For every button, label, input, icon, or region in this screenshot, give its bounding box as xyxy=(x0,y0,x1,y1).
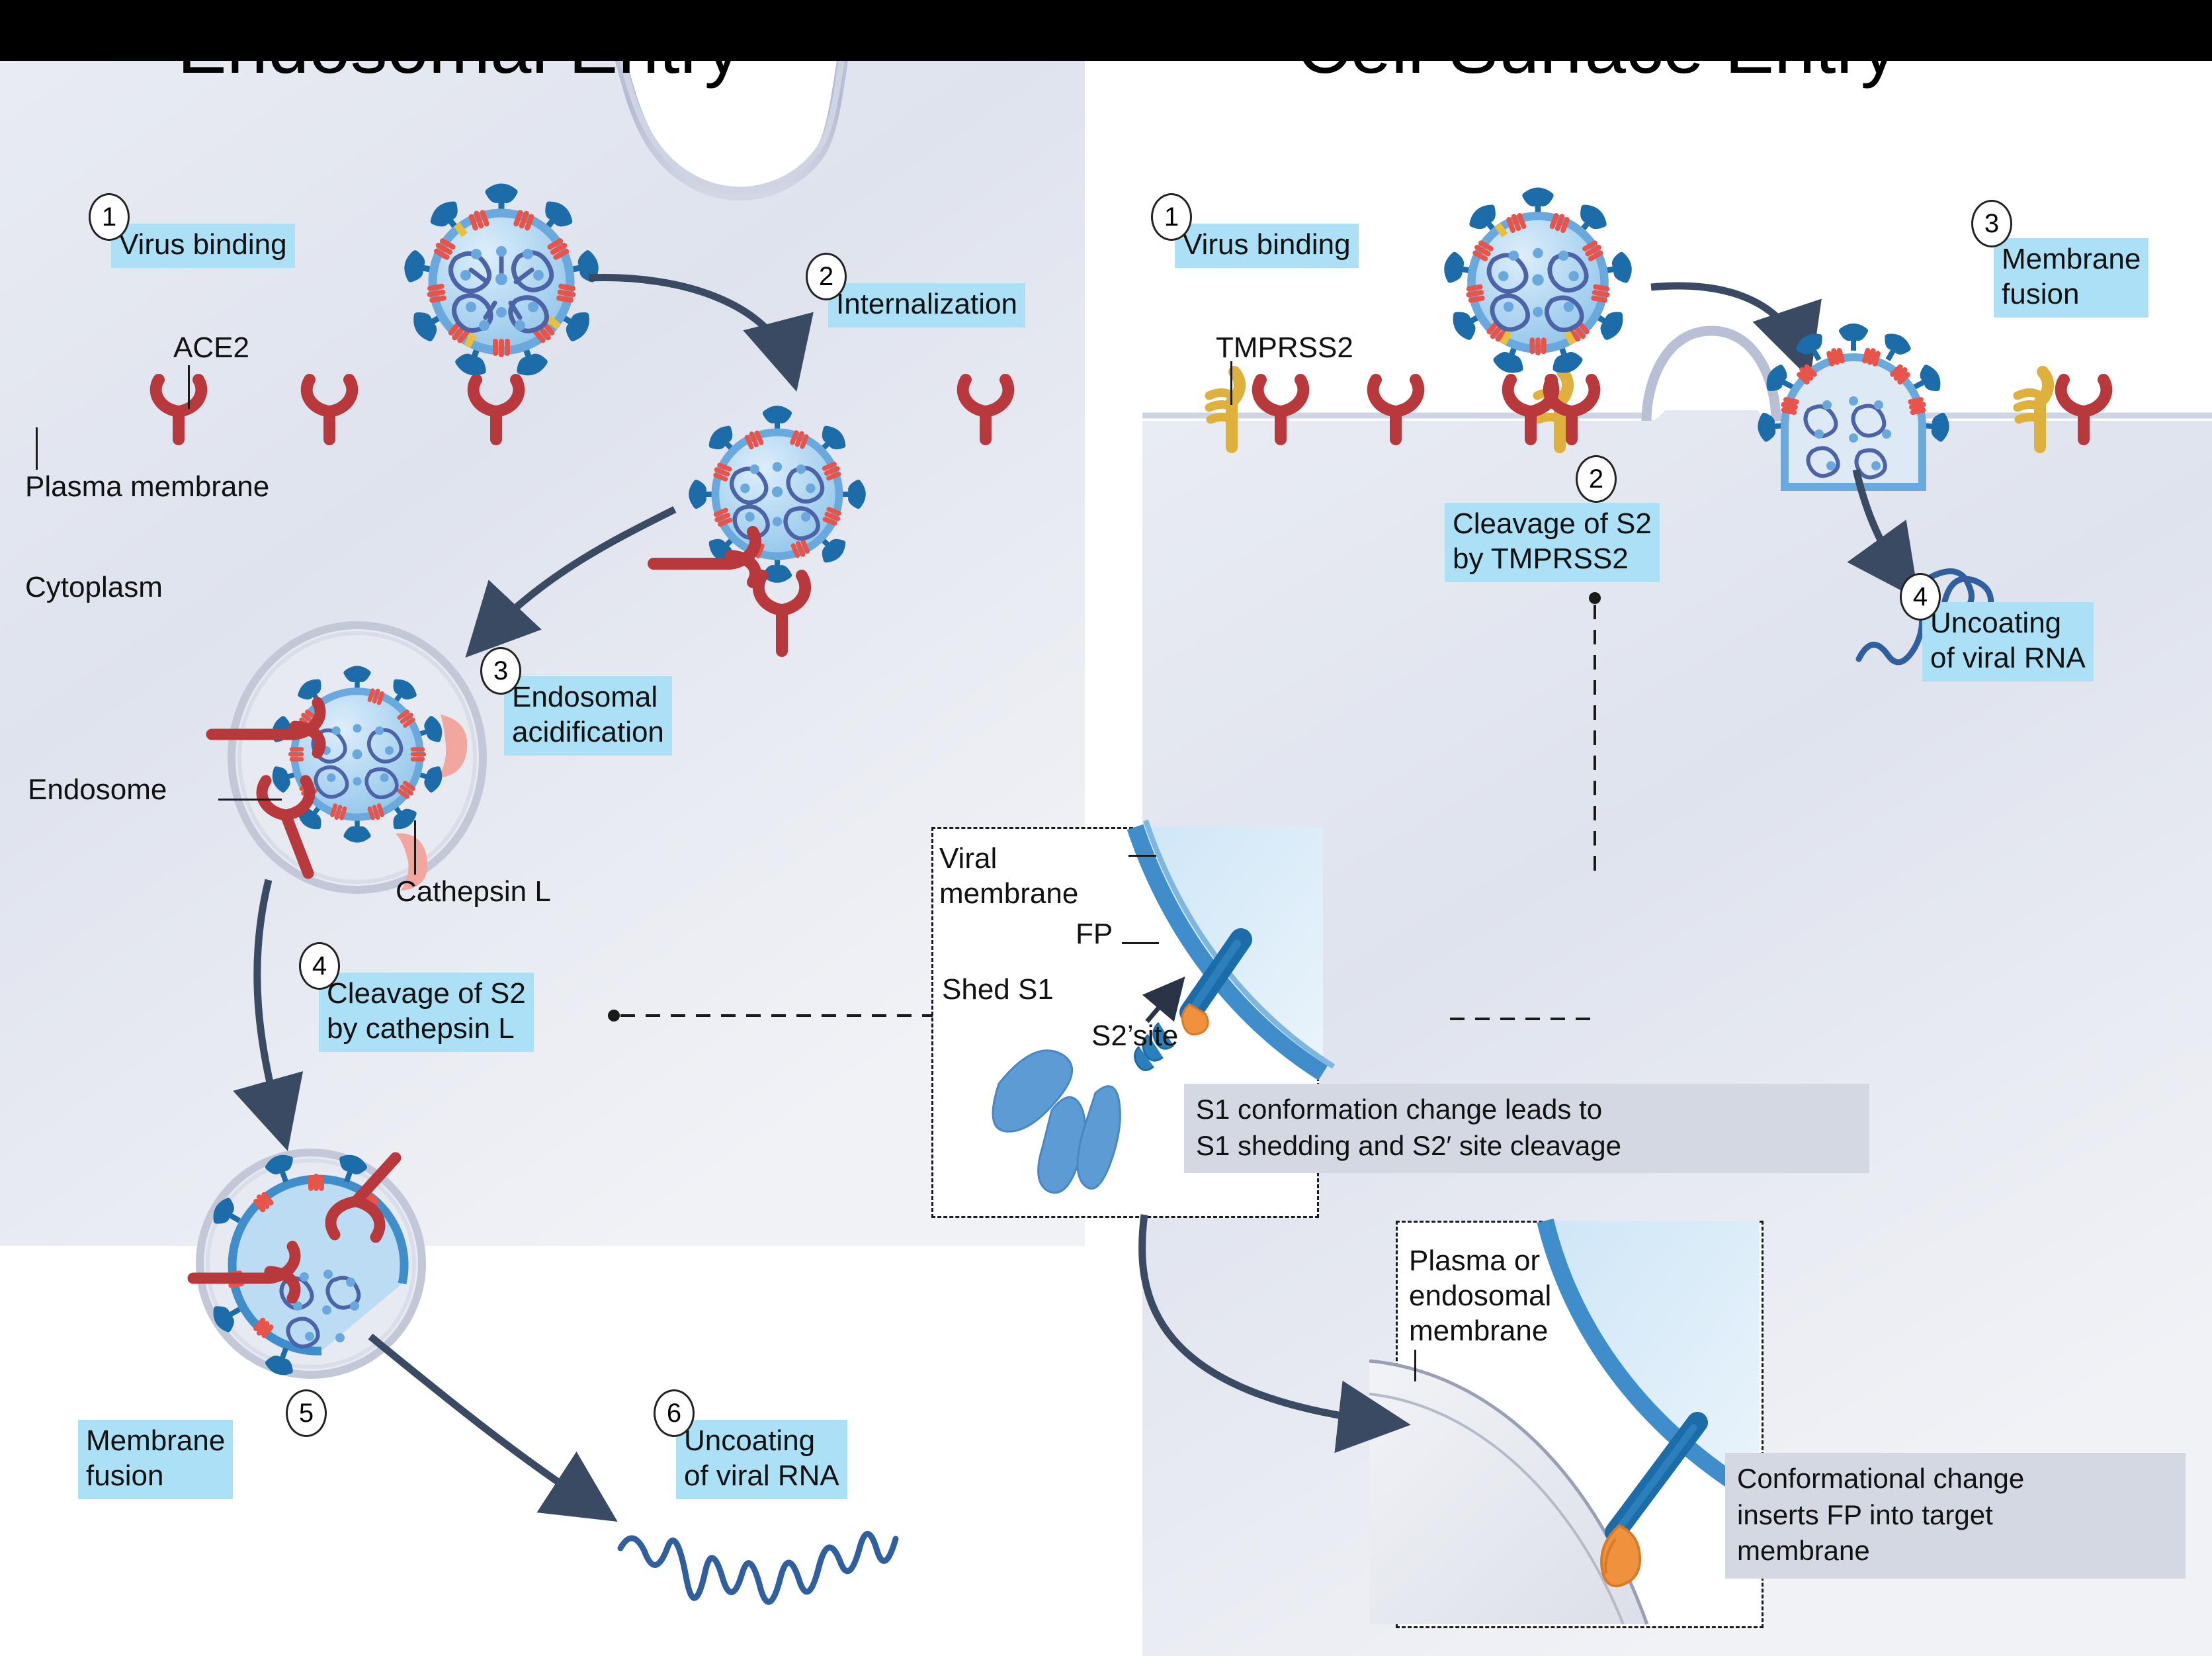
arrow-fusion-to-rna xyxy=(357,1323,635,1542)
fp-leader-line xyxy=(1122,942,1159,944)
ace2-leader-line xyxy=(188,365,190,409)
left-step-5-label: Membrane fusion xyxy=(78,1420,233,1499)
right-step-1-label: Virus binding xyxy=(1175,224,1359,268)
viral-membrane-leader-line xyxy=(1128,855,1156,857)
left-step-5-number: 5 xyxy=(286,1389,327,1437)
inset-fp-label: FP xyxy=(1076,917,1113,952)
tmprss2-label: TMPRSS2 xyxy=(1216,331,1353,366)
left-step-4-label: Cleavage of S2 by cathepsin L xyxy=(319,973,534,1052)
inset-s2-site-label: S2’site xyxy=(1091,1019,1178,1054)
viral-rna-strand-left xyxy=(615,1522,926,1628)
cathepsin-l-label: Cathepsin L xyxy=(396,875,551,910)
left-step-1-number: 1 xyxy=(89,193,130,241)
left-step-6-label: Uncoating of viral RNA xyxy=(676,1420,847,1499)
left-cell-svg xyxy=(0,0,1085,1246)
cathepsin-l-leader-line xyxy=(414,820,416,875)
left-step-3-label: Endosomal acidification xyxy=(504,676,672,756)
right-step-2-number: 2 xyxy=(1576,455,1617,503)
ace2-in-fusion-vesicle-left xyxy=(187,1237,306,1310)
tmprss2-leader-line xyxy=(1230,361,1232,405)
right-step-4-number: 4 xyxy=(1900,573,1941,621)
right-step-2-label: Cleavage of S2 by TMPRSS2 xyxy=(1445,503,1660,582)
inset-bottom-callout: Conformational change inserts FP into ta… xyxy=(1725,1453,2186,1579)
inset-top-callout: S1 conformation change leads to S1 shedd… xyxy=(1184,1084,1869,1173)
target-membrane-leader-line xyxy=(1414,1350,1416,1381)
left-cell-panel xyxy=(0,0,1085,1246)
plasma-membrane-leader-line xyxy=(36,427,38,470)
left-step-4-number: 4 xyxy=(299,942,340,990)
ace2-label: ACE2 xyxy=(173,331,249,366)
inset-viral-membrane-label: Viral membrane xyxy=(939,842,1078,912)
right-step-1-number: 1 xyxy=(1151,193,1192,241)
endosome-leader-line xyxy=(218,799,282,801)
right-step-4-label: Uncoating of viral RNA xyxy=(1922,602,2094,681)
top-black-band xyxy=(0,0,2212,61)
left-step-2-label: Internalization xyxy=(828,283,1025,327)
left-step-1-label: Virus binding xyxy=(111,224,295,268)
virion-free-right xyxy=(1442,187,1634,378)
right-step-3-label: Membrane fusion xyxy=(1994,238,2148,318)
left-step-3-number: 3 xyxy=(480,647,521,695)
inset-target-membrane-label: Plasma or endosomal membrane xyxy=(1409,1244,1551,1348)
left-step-2-number: 2 xyxy=(806,253,847,300)
plasma-membrane-label: Plasma membrane xyxy=(25,470,269,505)
inset-shed-s1-label: Shed S1 xyxy=(942,973,1054,1008)
diagram-canvas: Endosomal Entry Cell-Surface Entry 1 Vir… xyxy=(0,0,2212,1656)
cytoplasm-label: Cytoplasm xyxy=(25,570,163,605)
right-step-3-number: 3 xyxy=(1971,200,2012,247)
left-step-6-number: 6 xyxy=(654,1389,695,1437)
endosome-label: Endosome xyxy=(28,773,167,808)
